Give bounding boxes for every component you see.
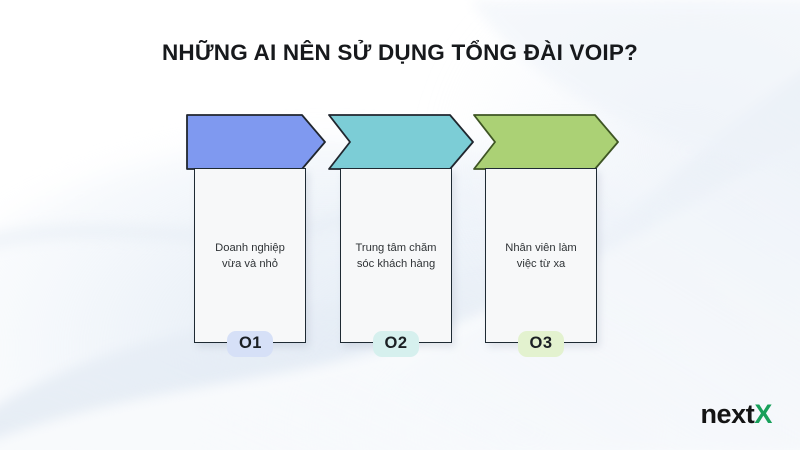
step-text-2: Trung tâm chăm sóc khách hàng (341, 239, 451, 271)
step-text-2-line1: Trung tâm chăm (355, 241, 436, 253)
step-text-1-line2: vừa và nhỏ (222, 258, 278, 270)
step-text-3: Nhân viên làm việc từ xa (486, 239, 596, 271)
step-text-1-line1: Doanh nghiệp (215, 241, 285, 253)
step-badge-1: O1 (227, 331, 273, 357)
steps-diagram: Doanh nghiệp vừa và nhỏ O1 Trung tâm chă… (186, 114, 626, 359)
step-panel-3: Nhân viên làm việc từ xa (485, 168, 597, 343)
brand-logo-mark: X (754, 399, 772, 429)
step-panel-2: Trung tâm chăm sóc khách hàng (340, 168, 452, 343)
step-badge-3: O3 (518, 331, 564, 357)
step-card-1[interactable]: Doanh nghiệp vừa và nhỏ O1 (186, 114, 310, 359)
page-title: NHỮNG AI NÊN SỬ DỤNG TỔNG ĐÀI VOIP? (0, 40, 800, 66)
brand-logo-text: next (700, 399, 754, 429)
step-card-3[interactable]: Nhân viên làm việc từ xa O3 (479, 114, 603, 359)
slide-canvas: NHỮNG AI NÊN SỬ DỤNG TỔNG ĐÀI VOIP? Doan… (0, 0, 800, 450)
step-card-2[interactable]: Trung tâm chăm sóc khách hàng O2 (334, 114, 458, 359)
step-panel-1: Doanh nghiệp vừa và nhỏ (194, 168, 306, 343)
step-text-3-line1: Nhân viên làm (505, 241, 577, 253)
step-badge-2: O2 (373, 331, 419, 357)
brand-logo: nextX (700, 401, 772, 428)
step-text-3-line2: việc từ xa (517, 258, 566, 270)
chevron-arrow-3-icon (473, 114, 619, 170)
chevron-arrow-1-icon (186, 114, 326, 170)
step-text-1: Doanh nghiệp vừa và nhỏ (195, 239, 305, 271)
step-text-2-line2: sóc khách hàng (357, 258, 435, 270)
chevron-arrow-2-icon (328, 114, 474, 170)
